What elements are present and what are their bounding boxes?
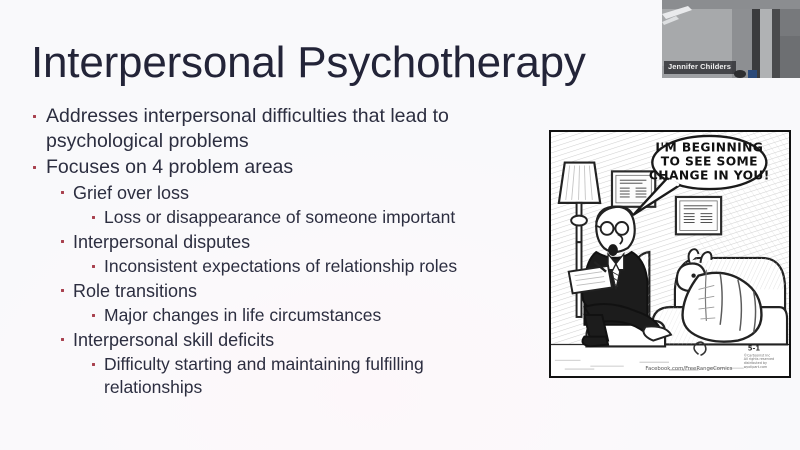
- list-item: Role transitions: [0, 279, 560, 303]
- list-item: Grief over loss: [0, 181, 560, 205]
- list-item-label: Interpersonal skill deficits: [73, 328, 560, 352]
- bullet-point-icon: [92, 363, 95, 366]
- list-item: Interpersonal disputes: [0, 230, 560, 254]
- list-item-label: Grief over loss: [73, 181, 560, 205]
- webcam-participant-name: Jennifer Childers: [664, 61, 736, 74]
- bullet-point-icon: [92, 265, 95, 268]
- list-item: Difficulty starting and maintaining fulf…: [0, 353, 560, 399]
- list-item: Interpersonal skill deficits: [0, 328, 560, 352]
- list-item: Loss or disappearance of someone importa…: [0, 206, 560, 229]
- webcam-video-tile[interactable]: Jennifer Childers: [662, 0, 800, 78]
- cartoon-credit: Facebook.com/FreeRangeComics: [645, 366, 732, 372]
- list-item-label: Major changes in life circumstances: [104, 304, 504, 327]
- bullet-point-icon: [33, 115, 36, 118]
- bullet-point-icon: [33, 166, 36, 169]
- bullet-point-icon: [92, 216, 95, 219]
- list-item-label: Loss or disappearance of someone importa…: [104, 206, 504, 229]
- bullet-point-icon: [61, 338, 64, 341]
- speech-bubble-line-2: TO SEE SOME: [661, 154, 758, 168]
- bullet-point-icon: [92, 314, 95, 317]
- bullet-point-icon: [61, 191, 64, 194]
- list-item: Addresses interpersonal difficulties tha…: [0, 104, 560, 154]
- cartoon-illustration: I'M BEGINNING TO SEE SOME CHANGE IN YOU!: [549, 130, 791, 378]
- list-item-label: Interpersonal disputes: [73, 230, 560, 254]
- presentation-slide: Interpersonal Psychotherapy Addresses in…: [0, 0, 800, 450]
- bullet-point-icon: [61, 240, 64, 243]
- speech-bubble-line-1: I'M BEGINNING: [655, 141, 763, 155]
- list-item-label: Addresses interpersonal difficulties tha…: [46, 104, 560, 154]
- list-item-label: Focuses on 4 problem areas: [46, 155, 560, 180]
- list-item-label: Role transitions: [73, 279, 560, 303]
- list-item-label: Difficulty starting and maintaining fulf…: [104, 353, 504, 399]
- slide-body-list: Addresses interpersonal difficulties tha…: [0, 104, 560, 400]
- list-item: Major changes in life circumstances: [0, 304, 560, 327]
- list-item: Focuses on 4 problem areas: [0, 155, 560, 180]
- list-item-label: Inconsistent expectations of relationshi…: [104, 255, 504, 278]
- page-title: Interpersonal Psychotherapy: [31, 39, 586, 87]
- svg-text:wpclipart.com: wpclipart.com: [744, 365, 768, 369]
- cartoon-date-mark: 5-1: [748, 344, 761, 352]
- list-item: Inconsistent expectations of relationshi…: [0, 255, 560, 278]
- speech-bubble-line-3: CHANGE IN YOU!: [649, 168, 770, 182]
- bullet-point-icon: [61, 289, 64, 292]
